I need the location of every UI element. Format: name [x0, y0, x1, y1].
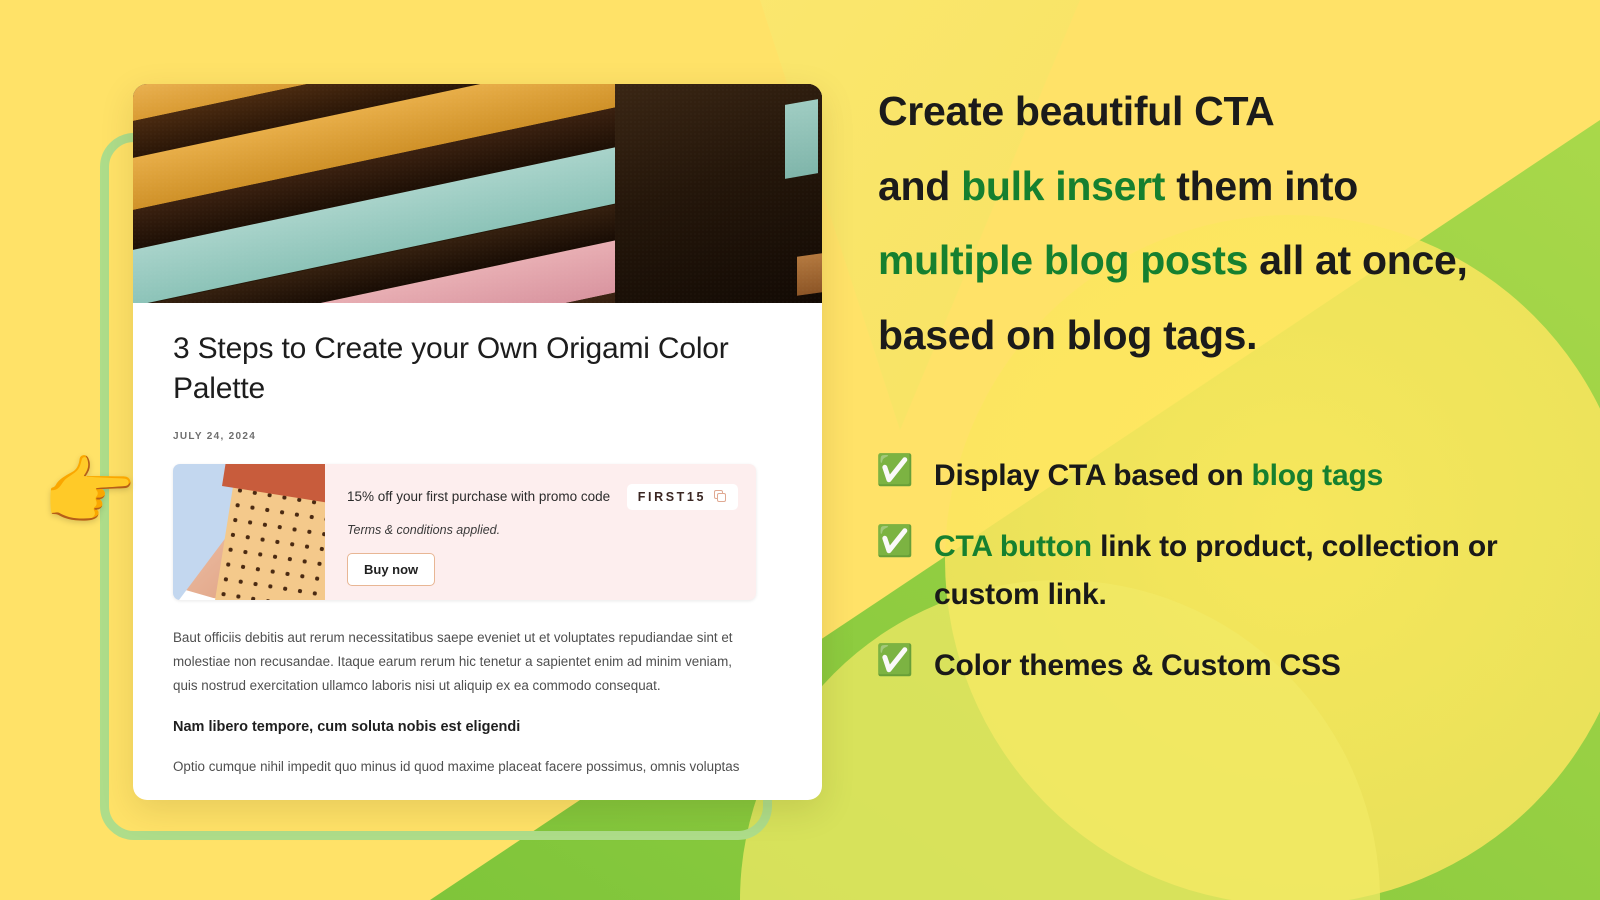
feature-text-highlight: blog tags: [1252, 459, 1384, 492]
blog-hero-image: [133, 84, 822, 303]
promo-code-chip[interactable]: FIRST15: [627, 484, 738, 510]
buy-now-button[interactable]: Buy now: [347, 553, 435, 586]
headline-line-2-suffix: them into: [1165, 163, 1358, 209]
blog-preview-stage: 3 Steps to Create your Own Origami Color…: [0, 0, 860, 900]
headline-line-3-suffix: all at once,: [1248, 237, 1467, 283]
cta-offer-row: 15% off your first purchase with promo c…: [347, 484, 738, 510]
headline-line-2-highlight: bulk insert: [961, 163, 1165, 209]
feature-text: CTA button link to product, collection o…: [934, 523, 1596, 620]
cta-content: 15% off your first purchase with promo c…: [325, 464, 756, 600]
promo-code-value: FIRST15: [638, 490, 706, 504]
feature-text: Color themes & Custom CSS: [934, 642, 1341, 691]
post-date: JULY 24, 2024: [173, 431, 782, 442]
check-mark-icon: ✅: [876, 642, 914, 680]
cta-thumbnail-image: [173, 464, 325, 600]
feature-item: ✅ Color themes & Custom CSS: [876, 642, 1596, 691]
copy-icon[interactable]: [714, 490, 727, 503]
headline-line-2: and bulk insert them into: [878, 149, 1578, 224]
feature-text-prefix: Display CTA based on: [934, 459, 1252, 492]
feature-item: ✅ CTA button link to product, collection…: [876, 523, 1596, 620]
headline-line-4-text: based on blog tags.: [878, 312, 1257, 358]
headline-line-3: multiple blog posts all at once,: [878, 223, 1578, 298]
blog-post-card: 3 Steps to Create your Own Origami Color…: [133, 84, 822, 800]
cta-terms-text: Terms & conditions applied.: [347, 523, 738, 537]
headline-line-4: based on blog tags.: [878, 298, 1578, 373]
check-mark-icon: ✅: [876, 523, 914, 561]
blog-card-body: 3 Steps to Create your Own Origami Color…: [133, 303, 822, 779]
headline-line-1: Create beautiful CTA: [878, 74, 1578, 149]
headline: Create beautiful CTA and bulk insert the…: [878, 74, 1578, 372]
feature-text-highlight: CTA button: [934, 530, 1092, 563]
pointing-right-hand-icon: 👉: [42, 455, 137, 531]
feature-list: ✅ Display CTA based on blog tags ✅ CTA b…: [876, 452, 1596, 690]
post-paragraph-2: Optio cumque nihil impedit quo minus id …: [173, 755, 758, 779]
hero-grain-overlay: [133, 84, 822, 303]
headline-line-2-prefix: and: [878, 163, 961, 209]
feature-item: ✅ Display CTA based on blog tags: [876, 452, 1596, 501]
cta-offer-text: 15% off your first purchase with promo c…: [347, 489, 610, 504]
feature-text-prefix: Color themes & Custom CSS: [934, 649, 1341, 682]
headline-line-1-text: Create beautiful CTA: [878, 88, 1274, 134]
marketing-copy-stage: Create beautiful CTA and bulk insert the…: [868, 0, 1600, 900]
post-subheading: Nam libero tempore, cum soluta nobis est…: [173, 719, 782, 735]
post-title: 3 Steps to Create your Own Origami Color…: [173, 329, 753, 409]
post-paragraph-1: Baut officiis debitis aut rerum necessit…: [173, 626, 758, 698]
cta-promo-banner[interactable]: 15% off your first purchase with promo c…: [173, 464, 756, 600]
check-mark-icon: ✅: [876, 452, 914, 490]
headline-line-3-highlight: multiple blog posts: [878, 237, 1248, 283]
feature-text: Display CTA based on blog tags: [934, 452, 1383, 501]
